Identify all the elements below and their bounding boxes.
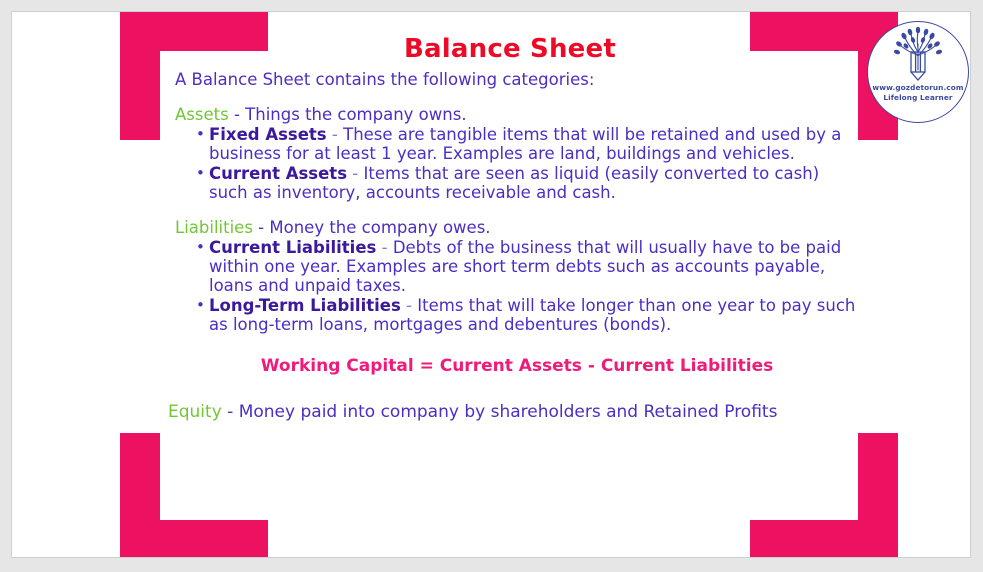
intro-text: A Balance Sheet contains the following c… [175, 70, 860, 89]
term-label: Current Assets [209, 164, 347, 183]
list-item: • Fixed Assets - These are tangible item… [195, 125, 860, 163]
category-dash: - [227, 402, 233, 422]
category-dash: - [234, 105, 240, 124]
bullet-icon: • [196, 125, 205, 145]
term-label: Fixed Assets [209, 125, 327, 144]
slide-canvas: Balance Sheet A Balance Sheet contains t… [11, 11, 971, 558]
category-label: Assets [175, 105, 229, 124]
list-item: • Current Liabilities - Debts of the bus… [195, 238, 860, 295]
category-label: Liabilities [175, 218, 253, 237]
pencil-tree-icon [868, 22, 968, 82]
term-label: Long-Term Liabilities [209, 296, 401, 315]
section-equity: Equity - Money paid into company by shar… [168, 402, 860, 422]
term-label: Current Liabilities [209, 238, 376, 257]
bullet-icon: • [196, 296, 205, 316]
category-definition: Things the company owns. [245, 105, 466, 124]
category-definition: Money the company owes. [269, 218, 490, 237]
section-assets: Assets - Things the company owns. • Fixe… [175, 105, 860, 202]
spacer [160, 89, 860, 105]
category-definition: Money paid into company by shareholders … [239, 402, 778, 422]
working-capital-formula: Working Capital = Current Assets - Curre… [160, 356, 860, 376]
list-item: • Current Assets - Items that are seen a… [195, 164, 860, 202]
term-separator: - [352, 164, 358, 183]
category-heading-assets: Assets - Things the company owns. [175, 105, 860, 124]
slide-content: Balance Sheet A Balance Sheet contains t… [160, 30, 860, 540]
term-separator: - [406, 296, 412, 315]
section-liabilities: Liabilities - Money the company owes. • … [175, 218, 860, 334]
logo-tagline-text: Lifelong Learner [868, 93, 968, 102]
logo-url-text: www.gozdetorun.com [868, 83, 968, 92]
page-title: Balance Sheet [160, 30, 860, 64]
logo-badge: www.gozdetorun.com Lifelong Learner [867, 21, 969, 123]
spacer [160, 202, 860, 218]
term-separator: - [332, 125, 338, 144]
category-label: Equity [168, 402, 222, 422]
bullet-icon: • [196, 238, 205, 258]
category-dash: - [258, 218, 264, 237]
term-separator: - [382, 238, 388, 257]
bullet-icon: • [196, 164, 205, 184]
category-heading-liabilities: Liabilities - Money the company owes. [175, 218, 860, 237]
list-item: • Long-Term Liabilities - Items that wil… [195, 296, 860, 334]
